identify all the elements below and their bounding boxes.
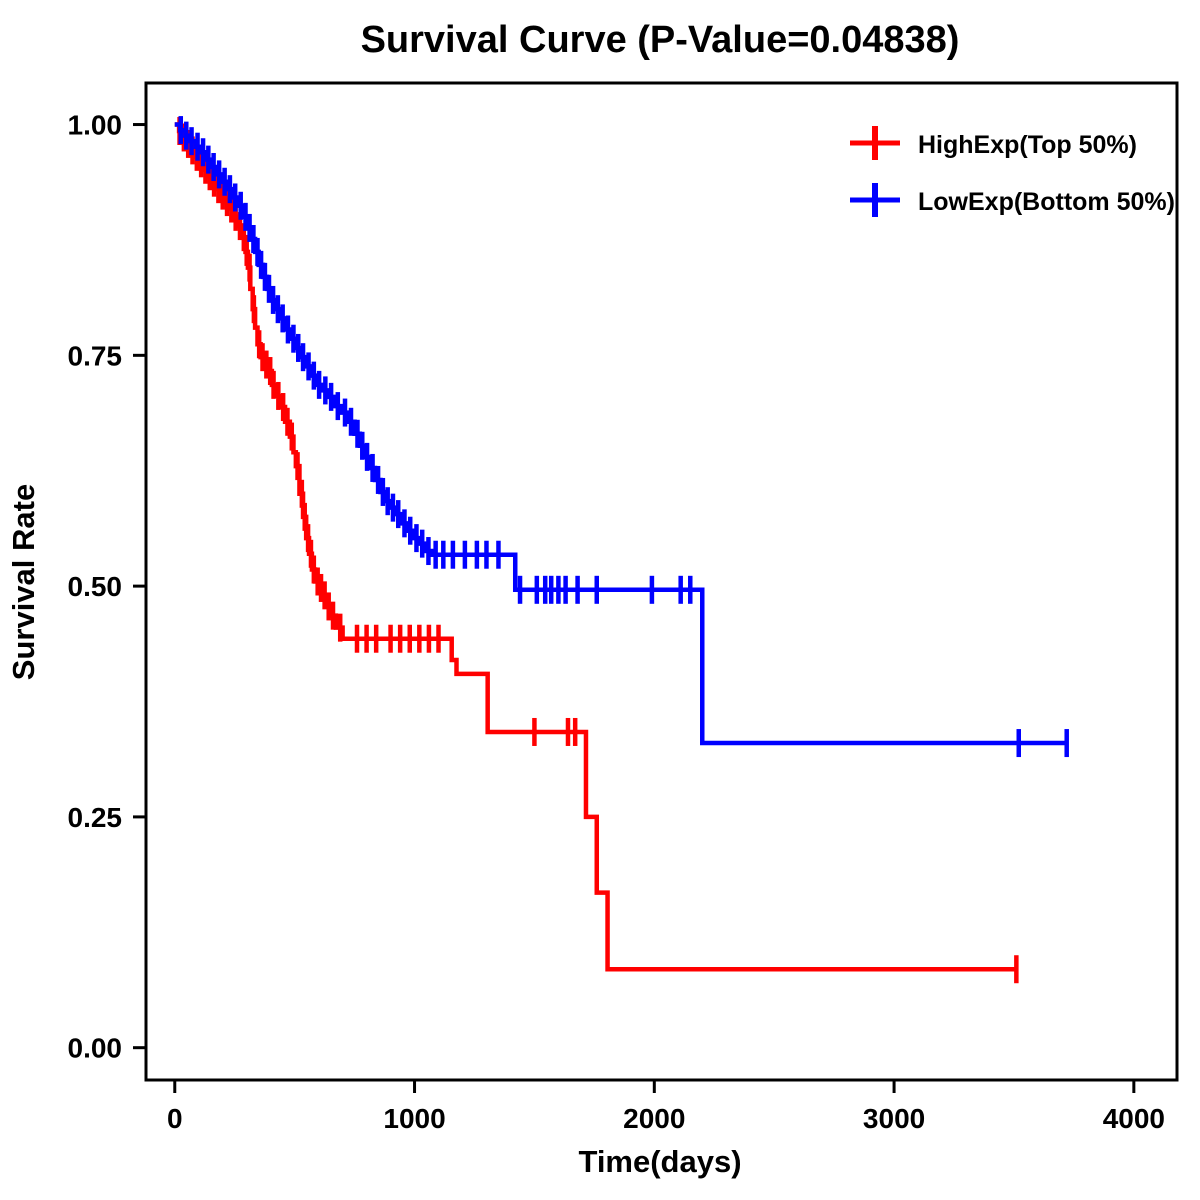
chart-title: Survival Curve (P-Value=0.04838): [361, 19, 960, 61]
chart-background: [0, 0, 1200, 1200]
y-tick-label-0.50: 0.50: [68, 571, 123, 602]
y-axis-label: Survival Rate: [6, 484, 41, 680]
x-tick-label-0: 0: [167, 1103, 183, 1134]
y-tick-label-1.00: 1.00: [68, 110, 123, 141]
x-tick-label-4000: 4000: [1103, 1103, 1165, 1134]
chart-svg: Survival Curve (P-Value=0.04838) 0100020…: [0, 0, 1200, 1200]
x-tick-label-2000: 2000: [623, 1103, 685, 1134]
y-tick-label-0.75: 0.75: [68, 340, 123, 371]
x-tick-label-1000: 1000: [383, 1103, 445, 1134]
legend-label: HighExp(Top 50%): [918, 131, 1137, 159]
survival-curve-chart: Survival Curve (P-Value=0.04838) 0100020…: [0, 0, 1200, 1200]
y-tick-label-0.00: 0.00: [68, 1033, 123, 1064]
y-tick-label-0.25: 0.25: [68, 802, 123, 833]
legend-label: LowExp(Bottom 50%): [918, 188, 1175, 216]
x-tick-label-3000: 3000: [863, 1103, 925, 1134]
x-axis-label: Time(days): [578, 1144, 741, 1179]
